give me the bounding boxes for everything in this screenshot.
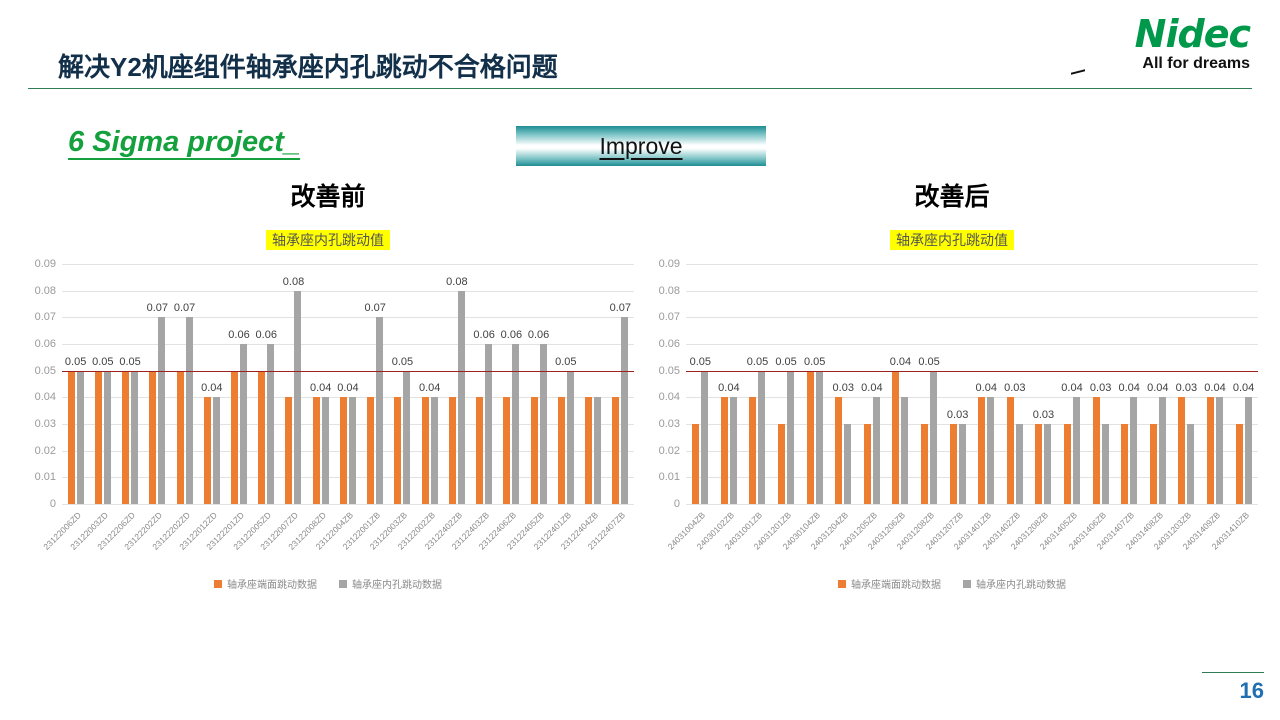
slide-header: 解决Y2机座组件轴承座内孔跳动不合格问题 Nidec All for dream… [0, 0, 1280, 96]
bar-endface[interactable] [285, 397, 292, 504]
y-tick-label: 0 [674, 498, 680, 510]
y-tick-label: 0.05 [659, 365, 680, 377]
bar-group[interactable]: 0.04 [1115, 264, 1144, 504]
chart-before: 00.010.020.030.040.050.060.070.080.09 0.… [18, 264, 638, 594]
bar-group[interactable]: 0.04 [334, 264, 361, 504]
bar-group[interactable]: 0.07 [362, 264, 389, 504]
bar-bore[interactable] [701, 371, 708, 504]
bar-bore[interactable] [1102, 424, 1109, 504]
bar-group[interactable]: 0.04 [307, 264, 334, 504]
bar-group[interactable]: 0.04 [416, 264, 443, 504]
panel-title-after: 改善后 [642, 182, 1262, 216]
data-label: 0.05 [65, 356, 86, 368]
bar-group[interactable]: 0.04 [1144, 264, 1173, 504]
data-label: 0.04 [419, 382, 440, 394]
bar-bore[interactable] [540, 344, 547, 504]
bar-group[interactable]: 0.07 [144, 264, 171, 504]
bar-bore[interactable] [1044, 424, 1051, 504]
y-tick-label: 0.05 [35, 365, 56, 377]
bar-group[interactable]: 0.05 [389, 264, 416, 504]
data-label: 0.05 [918, 356, 939, 368]
data-label: 0.05 [690, 356, 711, 368]
bar-endface[interactable] [177, 371, 184, 504]
y-axis-after: 00.010.020.030.040.050.060.070.080.09 [642, 264, 684, 504]
bar-bore[interactable] [1216, 397, 1223, 504]
bar-group[interactable]: 0.04 [715, 264, 744, 504]
bar-endface[interactable] [1178, 397, 1185, 504]
data-label: 0.03 [1004, 382, 1025, 394]
footer-divider [1202, 672, 1264, 673]
bar-bore[interactable] [1159, 397, 1166, 504]
y-tick-label: 0.09 [35, 258, 56, 270]
y-tick-label: 0.01 [659, 471, 680, 483]
bar-group[interactable]: 0.06 [498, 264, 525, 504]
data-label: 0.03 [1176, 382, 1197, 394]
header-divider [28, 88, 1252, 89]
y-tick-label: 0.07 [35, 311, 56, 323]
bar-group[interactable]: 0.03 [829, 264, 858, 504]
data-label: 0.04 [890, 356, 911, 368]
data-label: 0.04 [1061, 382, 1082, 394]
y-tick-label: 0.02 [659, 445, 680, 457]
data-label: 0.04 [976, 382, 997, 394]
bar-endface[interactable] [1064, 424, 1071, 504]
legend-swatch [838, 580, 846, 588]
legend-label: 轴承座端面跳动数据 [227, 576, 317, 591]
bar-group[interactable]: 0.05 [772, 264, 801, 504]
bar-endface[interactable] [68, 371, 75, 504]
bar-bore[interactable] [901, 397, 908, 504]
bar-endface[interactable] [1093, 397, 1100, 504]
bar-endface[interactable] [864, 424, 871, 504]
bar-endface[interactable] [1121, 424, 1128, 504]
bar-bore[interactable] [158, 317, 165, 504]
swoosh-icon [1071, 62, 1085, 74]
chart-panel-after: 改善后 轴承座内孔跳动值 00.010.020.030.040.050.060.… [642, 182, 1262, 622]
chart-title-wrap-after: 轴承座内孔跳动值 [642, 230, 1262, 252]
bar-endface[interactable] [807, 371, 814, 504]
y-tick-label: 0.08 [659, 285, 680, 297]
legend-label: 轴承座端面跳动数据 [851, 576, 941, 591]
bar-group[interactable]: 0.07 [607, 264, 634, 504]
y-tick-label: 0.06 [35, 338, 56, 350]
data-label: 0.04 [1233, 382, 1254, 394]
project-label: 6 Sigma project_ [68, 126, 300, 159]
nidec-logo: Nidec All for dreams [1065, 14, 1250, 84]
bar-group[interactable]: 0.05 [116, 264, 143, 504]
gridline [686, 504, 1258, 505]
bar-bore[interactable] [349, 397, 356, 504]
data-label: 0.07 [147, 302, 168, 314]
bar-group[interactable]: 0.04 [1201, 264, 1230, 504]
bar-endface[interactable] [1150, 424, 1157, 504]
bar-bore[interactable] [758, 371, 765, 504]
bar-bore[interactable] [213, 397, 220, 504]
bar-endface[interactable] [503, 397, 510, 504]
bar-bore[interactable] [594, 397, 601, 504]
y-tick-label: 0.01 [35, 471, 56, 483]
bar-endface[interactable] [921, 424, 928, 504]
bar-bore[interactable] [844, 424, 851, 504]
bar-endface[interactable] [340, 397, 347, 504]
bar-endface[interactable] [531, 397, 538, 504]
bar-endface[interactable] [313, 397, 320, 504]
bar-bore[interactable] [1073, 397, 1080, 504]
bar-bore[interactable] [485, 344, 492, 504]
bar-group[interactable]: 0.03 [1172, 264, 1201, 504]
bar-bore[interactable] [512, 344, 519, 504]
data-label: 0.04 [861, 382, 882, 394]
bar-bore[interactable] [621, 317, 628, 504]
data-label: 0.06 [473, 329, 494, 341]
bar-endface[interactable] [449, 397, 456, 504]
data-label: 0.08 [283, 276, 304, 288]
bar-endface[interactable] [835, 397, 842, 504]
bar-group[interactable]: 0.04 [972, 264, 1001, 504]
data-label: 0.05 [555, 356, 576, 368]
bar-group[interactable]: 0.08 [443, 264, 470, 504]
bar-group[interactable]: 0.05 [62, 264, 89, 504]
chart-panel-before: 改善前 轴承座内孔跳动值 00.010.020.030.040.050.060.… [18, 182, 638, 622]
bar-group[interactable]: 0.06 [471, 264, 498, 504]
legend-item[interactable]: 轴承座端面跳动数据 [838, 576, 941, 591]
bar-bore[interactable] [1245, 397, 1252, 504]
bar-bore[interactable] [403, 371, 410, 504]
bar-group[interactable]: 0.04 [858, 264, 887, 504]
bar-endface[interactable] [558, 397, 565, 504]
bar-groups-before: 0.050.050.050.070.070.040.060.060.080.04… [62, 264, 634, 504]
bar-endface[interactable] [231, 371, 238, 504]
bar-group[interactable]: 0.03 [943, 264, 972, 504]
data-label: 0.03 [1090, 382, 1111, 394]
phase-badge[interactable]: Improve [516, 126, 766, 166]
bar-group[interactable]: 0.05 [915, 264, 944, 504]
bar-group[interactable]: 0.03 [1029, 264, 1058, 504]
bar-endface[interactable] [892, 371, 899, 504]
data-label: 0.07 [364, 302, 385, 314]
bar-group[interactable]: 0.06 [225, 264, 252, 504]
legend-swatch [963, 580, 971, 588]
bar-group[interactable] [579, 264, 606, 504]
bar-bore[interactable] [376, 317, 383, 504]
y-tick-label: 0 [50, 498, 56, 510]
bar-endface[interactable] [95, 371, 102, 504]
page-title: 解决Y2机座组件轴承座内孔跳动不合格问题 [58, 47, 558, 84]
bar-group[interactable]: 0.05 [800, 264, 829, 504]
bar-bore[interactable] [816, 371, 823, 504]
bar-endface[interactable] [692, 424, 699, 504]
gridline [62, 504, 634, 505]
legend-label: 轴承座内孔跳动数据 [352, 576, 442, 591]
bar-bore[interactable] [131, 371, 138, 504]
bar-bore[interactable] [104, 371, 111, 504]
data-label: 0.06 [501, 329, 522, 341]
y-tick-label: 0.08 [35, 285, 56, 297]
bar-endface[interactable] [1207, 397, 1214, 504]
data-label: 0.03 [1033, 409, 1054, 421]
bar-bore[interactable] [787, 371, 794, 504]
bar-group[interactable]: 0.06 [525, 264, 552, 504]
chart-after: 00.010.020.030.040.050.060.070.080.09 0.… [642, 264, 1262, 594]
bar-endface[interactable] [149, 371, 156, 504]
legend-item[interactable]: 轴承座内孔跳动数据 [339, 576, 442, 591]
phase-badge-label: Improve [599, 133, 682, 160]
logo-tagline: All for dreams [1065, 55, 1250, 73]
spec-limit-line [62, 371, 634, 372]
data-label: 0.04 [310, 382, 331, 394]
bar-bore[interactable] [431, 397, 438, 504]
data-label: 0.05 [392, 356, 413, 368]
legend-swatch [339, 580, 347, 588]
data-label: 0.06 [228, 329, 249, 341]
y-tick-label: 0.04 [35, 391, 56, 403]
y-tick-label: 0.09 [659, 258, 680, 270]
bar-bore[interactable] [873, 397, 880, 504]
logo-wordmark: Nidec [1065, 14, 1250, 54]
bar-endface[interactable] [778, 424, 785, 504]
bar-bore[interactable] [240, 344, 247, 504]
bar-endface[interactable] [1007, 397, 1014, 504]
y-tick-label: 0.04 [659, 391, 680, 403]
data-label: 0.04 [201, 382, 222, 394]
bar-endface[interactable] [258, 371, 265, 504]
bar-group[interactable]: 0.04 [886, 264, 915, 504]
bar-bore[interactable] [322, 397, 329, 504]
data-label: 0.05 [92, 356, 113, 368]
bar-group[interactable]: 0.05 [743, 264, 772, 504]
bar-group[interactable]: 0.04 [198, 264, 225, 504]
logo-tagline-text: All for dreams [1142, 55, 1250, 72]
data-label: 0.04 [1147, 382, 1168, 394]
bar-bore[interactable] [458, 291, 465, 504]
data-label: 0.05 [119, 356, 140, 368]
data-label: 0.04 [1118, 382, 1139, 394]
bar-bore[interactable] [186, 317, 193, 504]
bar-group[interactable]: 0.03 [1086, 264, 1115, 504]
bar-endface[interactable] [978, 397, 985, 504]
bar-group[interactable]: 0.08 [280, 264, 307, 504]
data-label: 0.04 [718, 382, 739, 394]
data-label: 0.05 [804, 356, 825, 368]
legend-item[interactable]: 轴承座内孔跳动数据 [963, 576, 1066, 591]
bar-bore[interactable] [1130, 397, 1137, 504]
data-label: 0.04 [1204, 382, 1225, 394]
bar-bore[interactable] [294, 291, 301, 504]
bar-endface[interactable] [612, 397, 619, 504]
data-label: 0.06 [528, 329, 549, 341]
plot-area-before: 0.050.050.050.070.070.040.060.060.080.04… [62, 264, 634, 504]
legend-label: 轴承座内孔跳动数据 [976, 576, 1066, 591]
bar-group[interactable]: 0.04 [1229, 264, 1258, 504]
y-tick-label: 0.03 [35, 418, 56, 430]
bar-endface[interactable] [394, 397, 401, 504]
bar-endface[interactable] [204, 397, 211, 504]
data-label: 0.08 [446, 276, 467, 288]
bar-bore[interactable] [730, 397, 737, 504]
bar-endface[interactable] [367, 397, 374, 504]
bar-endface[interactable] [122, 371, 129, 504]
data-label: 0.07 [610, 302, 631, 314]
legend-item[interactable]: 轴承座端面跳动数据 [214, 576, 317, 591]
panel-title-before: 改善前 [18, 182, 638, 216]
bar-group[interactable]: 0.07 [171, 264, 198, 504]
plot-area-after: 0.050.040.050.050.050.030.040.040.050.03… [686, 264, 1258, 504]
bar-endface[interactable] [476, 397, 483, 504]
y-tick-label: 0.07 [659, 311, 680, 323]
chart-title-wrap-before: 轴承座内孔跳动值 [18, 230, 638, 252]
bar-group[interactable]: 0.03 [1001, 264, 1030, 504]
data-label: 0.03 [833, 382, 854, 394]
chart-title-after: 轴承座内孔跳动值 [890, 230, 1014, 250]
bar-endface[interactable] [721, 397, 728, 504]
bar-endface[interactable] [1035, 424, 1042, 504]
legend-before: 轴承座端面跳动数据轴承座内孔跳动数据 [18, 576, 638, 591]
bar-bore[interactable] [1016, 424, 1023, 504]
bar-bore[interactable] [267, 344, 274, 504]
data-label: 0.06 [256, 329, 277, 341]
data-label: 0.07 [174, 302, 195, 314]
bar-bore[interactable] [987, 397, 994, 504]
bar-bore[interactable] [77, 371, 84, 504]
y-tick-label: 0.03 [659, 418, 680, 430]
chart-title-before: 轴承座内孔跳动值 [266, 230, 390, 250]
y-tick-label: 0.02 [35, 445, 56, 457]
bar-endface[interactable] [1236, 424, 1243, 504]
data-label: 0.05 [775, 356, 796, 368]
bar-bore[interactable] [1187, 424, 1194, 504]
bar-endface[interactable] [585, 397, 592, 504]
legend-after: 轴承座端面跳动数据轴承座内孔跳动数据 [642, 576, 1262, 591]
data-label: 0.03 [947, 409, 968, 421]
bar-group[interactable]: 0.06 [253, 264, 280, 504]
bar-group[interactable]: 0.04 [1058, 264, 1087, 504]
bar-endface[interactable] [950, 424, 957, 504]
legend-swatch [214, 580, 222, 588]
bar-endface[interactable] [422, 397, 429, 504]
bar-group[interactable]: 0.05 [552, 264, 579, 504]
bar-groups-after: 0.050.040.050.050.050.030.040.040.050.03… [686, 264, 1258, 504]
bar-endface[interactable] [749, 397, 756, 504]
page-number: 16 [1240, 678, 1264, 704]
data-label: 0.04 [337, 382, 358, 394]
bar-bore[interactable] [959, 424, 966, 504]
y-axis-before: 00.010.020.030.040.050.060.070.080.09 [18, 264, 60, 504]
y-tick-label: 0.06 [659, 338, 680, 350]
bar-bore[interactable] [567, 371, 574, 504]
data-label: 0.05 [747, 356, 768, 368]
spec-limit-line [686, 371, 1258, 372]
bar-bore[interactable] [930, 371, 937, 504]
bar-group[interactable]: 0.05 [686, 264, 715, 504]
bar-group[interactable]: 0.05 [89, 264, 116, 504]
